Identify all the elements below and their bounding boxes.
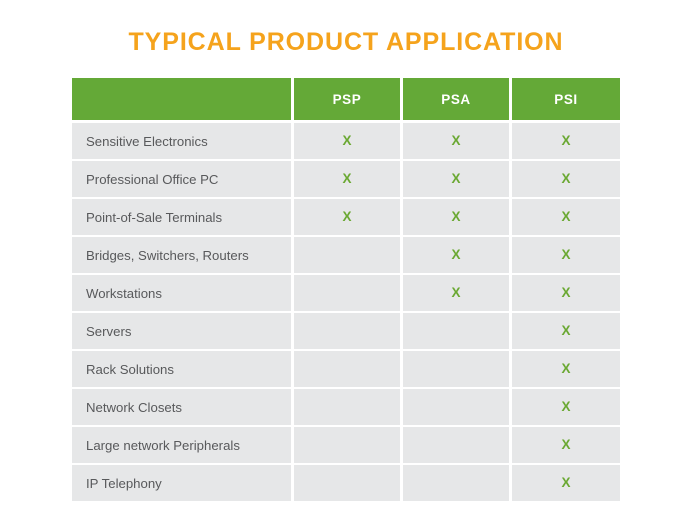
cell-psp bbox=[294, 389, 400, 425]
table-row: Point-of-Sale TerminalsXXX bbox=[72, 199, 620, 235]
cell-psp bbox=[294, 465, 400, 501]
cell-psp bbox=[294, 313, 400, 349]
cell-psa bbox=[403, 465, 509, 501]
table-row: Professional Office PCXXX bbox=[72, 161, 620, 197]
cell-psi: X bbox=[512, 389, 620, 425]
row-label: Workstations bbox=[72, 275, 291, 311]
row-label: Sensitive Electronics bbox=[72, 123, 291, 159]
cell-psa: X bbox=[403, 123, 509, 159]
cell-psa bbox=[403, 351, 509, 387]
check-mark-icon: X bbox=[342, 210, 351, 224]
check-mark-icon: X bbox=[451, 286, 460, 300]
cell-psa bbox=[403, 313, 509, 349]
table-row: WorkstationsXX bbox=[72, 275, 620, 311]
cell-psp: X bbox=[294, 123, 400, 159]
row-label: Professional Office PC bbox=[72, 161, 291, 197]
column-header-psa: PSA bbox=[403, 78, 509, 120]
check-mark-icon: X bbox=[342, 134, 351, 148]
column-header-psp: PSP bbox=[294, 78, 400, 120]
table-row: Sensitive ElectronicsXXX bbox=[72, 123, 620, 159]
cell-psp bbox=[294, 427, 400, 463]
check-mark-icon: X bbox=[342, 172, 351, 186]
cell-psa: X bbox=[403, 237, 509, 273]
cell-psp: X bbox=[294, 161, 400, 197]
column-header-application bbox=[72, 78, 291, 120]
check-mark-icon: X bbox=[561, 172, 570, 186]
product-application-table: PSP PSA PSI Sensitive ElectronicsXXXProf… bbox=[72, 78, 620, 503]
check-mark-icon: X bbox=[561, 134, 570, 148]
cell-psi: X bbox=[512, 123, 620, 159]
cell-psi: X bbox=[512, 237, 620, 273]
page-title: TYPICAL PRODUCT APPLICATION bbox=[0, 28, 692, 57]
row-label: Servers bbox=[72, 313, 291, 349]
table-row: Network ClosetsX bbox=[72, 389, 620, 425]
row-label: Rack Solutions bbox=[72, 351, 291, 387]
check-mark-icon: X bbox=[561, 286, 570, 300]
table-body: Sensitive ElectronicsXXXProfessional Off… bbox=[72, 123, 620, 501]
cell-psi: X bbox=[512, 427, 620, 463]
table-row: Bridges, Switchers, RoutersXX bbox=[72, 237, 620, 273]
check-mark-icon: X bbox=[451, 172, 460, 186]
table-row: ServersX bbox=[72, 313, 620, 349]
cell-psp: X bbox=[294, 199, 400, 235]
cell-psi: X bbox=[512, 275, 620, 311]
check-mark-icon: X bbox=[561, 324, 570, 338]
row-label: IP Telephony bbox=[72, 465, 291, 501]
check-mark-icon: X bbox=[561, 362, 570, 376]
cell-psp bbox=[294, 275, 400, 311]
cell-psa: X bbox=[403, 275, 509, 311]
check-mark-icon: X bbox=[561, 210, 570, 224]
check-mark-icon: X bbox=[561, 476, 570, 490]
cell-psi: X bbox=[512, 199, 620, 235]
row-label: Point-of-Sale Terminals bbox=[72, 199, 291, 235]
check-mark-icon: X bbox=[451, 134, 460, 148]
cell-psa: X bbox=[403, 199, 509, 235]
table-row: IP TelephonyX bbox=[72, 465, 620, 501]
cell-psp bbox=[294, 351, 400, 387]
cell-psa bbox=[403, 389, 509, 425]
check-mark-icon: X bbox=[561, 400, 570, 414]
cell-psi: X bbox=[512, 161, 620, 197]
cell-psa bbox=[403, 427, 509, 463]
cell-psi: X bbox=[512, 465, 620, 501]
check-mark-icon: X bbox=[561, 248, 570, 262]
product-application-page: TYPICAL PRODUCT APPLICATION PSP PSA PSI … bbox=[0, 0, 692, 514]
table-header-row: PSP PSA PSI bbox=[72, 78, 620, 120]
table-row: Rack SolutionsX bbox=[72, 351, 620, 387]
row-label: Bridges, Switchers, Routers bbox=[72, 237, 291, 273]
check-mark-icon: X bbox=[451, 210, 460, 224]
cell-psi: X bbox=[512, 351, 620, 387]
row-label: Large network Peripherals bbox=[72, 427, 291, 463]
column-header-psi: PSI bbox=[512, 78, 620, 120]
check-mark-icon: X bbox=[451, 248, 460, 262]
cell-psp bbox=[294, 237, 400, 273]
table-row: Large network PeripheralsX bbox=[72, 427, 620, 463]
check-mark-icon: X bbox=[561, 438, 570, 452]
cell-psi: X bbox=[512, 313, 620, 349]
row-label: Network Closets bbox=[72, 389, 291, 425]
cell-psa: X bbox=[403, 161, 509, 197]
